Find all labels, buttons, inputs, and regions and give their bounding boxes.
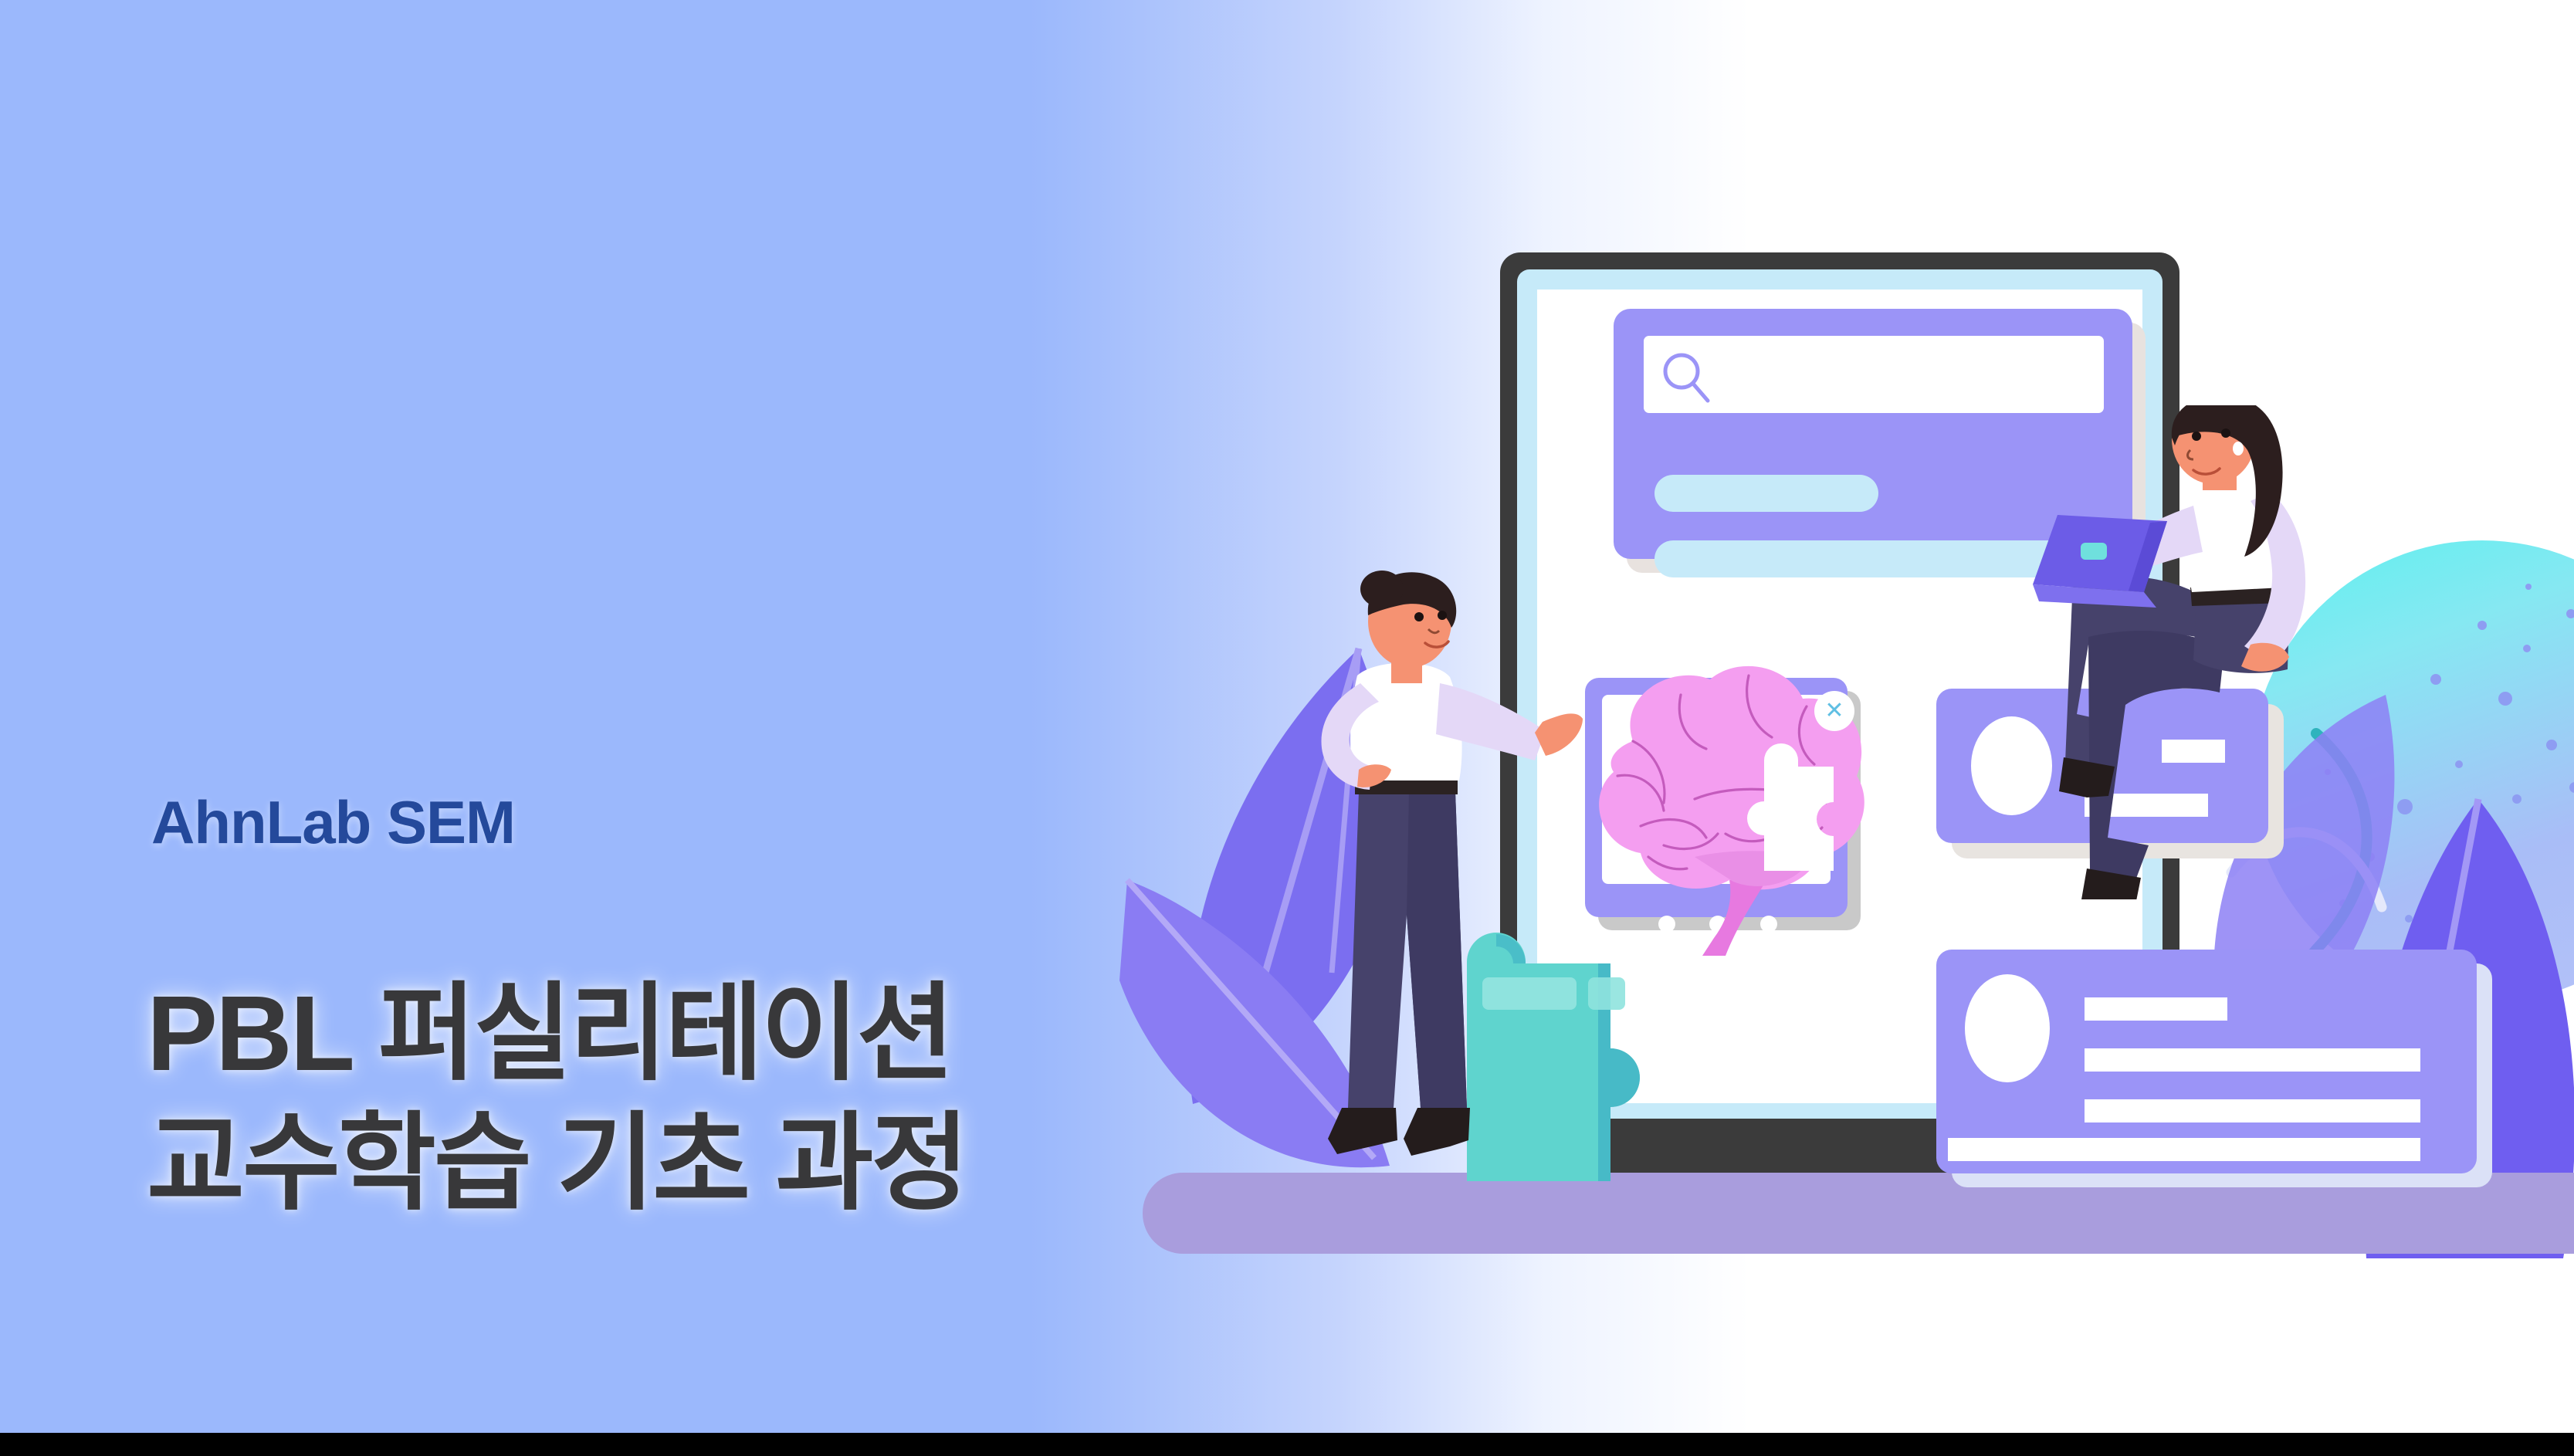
profile-line bbox=[2085, 1048, 2420, 1072]
page-title: PBL 퍼실리테이션 교수학습 기초 과정 bbox=[147, 969, 967, 1229]
profile-line bbox=[1948, 1138, 2420, 1161]
banner-canvas: ✕ bbox=[0, 0, 2574, 1456]
seated-woman-with-laptop bbox=[1965, 405, 2405, 899]
profile-line bbox=[2085, 997, 2227, 1021]
standing-woman-presenter bbox=[1274, 567, 1629, 1185]
close-glyph: ✕ bbox=[1824, 699, 1844, 723]
content-bar bbox=[1654, 475, 1878, 512]
profile-line bbox=[2085, 1099, 2420, 1122]
brand-name: AhnLab SEM bbox=[151, 787, 515, 858]
bottom-black-strip bbox=[0, 1433, 2574, 1456]
search-icon bbox=[1660, 351, 1714, 405]
headline-line-1: PBL 퍼실리테이션 bbox=[147, 969, 967, 1099]
avatar bbox=[1965, 974, 2050, 1082]
headline-line-2: 교수학습 기초 과정 bbox=[147, 1099, 967, 1228]
close-icon[interactable]: ✕ bbox=[1814, 691, 1854, 731]
